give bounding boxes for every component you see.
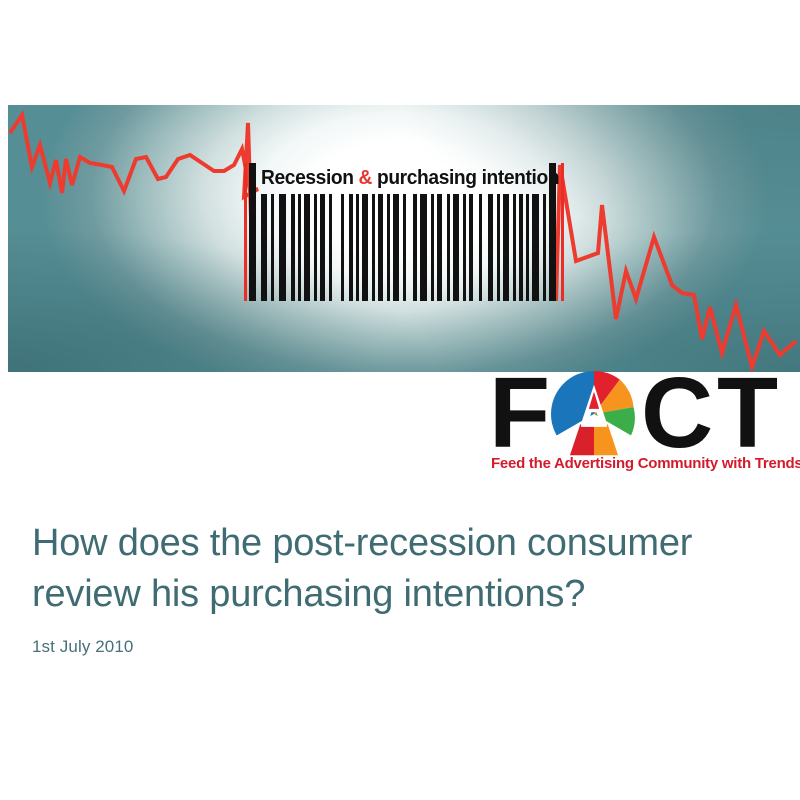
barcode-stripe xyxy=(320,194,325,301)
page-title-line-1: How does the post-recession consumer xyxy=(32,522,692,564)
barcode-stripe xyxy=(298,194,301,301)
fact-logo-tagline: Feed the Advertising Community with Tren… xyxy=(491,455,794,472)
barcode-stripe xyxy=(463,194,466,301)
barcode-stripe xyxy=(532,194,539,301)
barcode-stripe xyxy=(329,194,332,301)
banner-image: Recession & purchasing intention xyxy=(8,105,800,372)
barcode-label-part1: Recession xyxy=(261,167,359,189)
slide-date: 1st July 2010 xyxy=(32,637,762,657)
title-block: How does the post-recession consumerrevi… xyxy=(32,518,762,657)
barcode-stripe xyxy=(261,194,267,301)
barcode-stripe xyxy=(271,194,274,301)
barcode-stripe xyxy=(378,194,383,301)
barcode-stripe xyxy=(304,194,310,301)
barcode-stripe xyxy=(453,194,459,301)
barcode-stripe xyxy=(403,194,406,301)
trend-line-right xyxy=(556,165,796,367)
fact-logo-letters: F C T xyxy=(489,367,794,453)
logo-letter-c: C xyxy=(641,363,713,463)
fact-logo: F C T Feed the Advertising Community wit xyxy=(489,367,794,477)
barcode-stripe xyxy=(279,194,286,301)
barcode-stripe xyxy=(362,194,368,301)
barcode: Recession & purchasing intention xyxy=(244,163,564,301)
barcode-stripe xyxy=(513,194,516,301)
barcode-stripe xyxy=(479,194,482,301)
barcode-label-part2: purchasing intention xyxy=(372,167,559,189)
barcode-stripe xyxy=(526,194,529,301)
barcode-stripe xyxy=(447,194,450,301)
barcode-stripe xyxy=(356,194,359,301)
logo-letter-t: T xyxy=(717,363,778,463)
trend-line-left xyxy=(10,115,258,250)
title-slide: Recession & purchasing intention F C T xyxy=(0,0,800,800)
barcode-stripe xyxy=(497,194,500,301)
barcode-stripe xyxy=(314,194,317,301)
barcode-stripe xyxy=(420,194,427,301)
logo-a-crossbar-gap xyxy=(581,423,607,427)
barcode-stripe xyxy=(543,194,546,301)
barcode-stripes xyxy=(261,194,546,301)
barcode-stripe xyxy=(372,194,375,301)
barcode-stripe xyxy=(431,194,434,301)
barcode-stripe xyxy=(393,194,399,301)
barcode-stripe xyxy=(503,194,509,301)
barcode-stripe xyxy=(437,194,442,301)
barcode-stripe xyxy=(469,194,473,301)
barcode-stripe xyxy=(387,194,390,301)
barcode-edge-black-left xyxy=(249,163,256,301)
barcode-edge-red-left xyxy=(244,163,247,301)
barcode-stripe xyxy=(291,194,295,301)
barcode-label-ampersand: & xyxy=(359,167,372,189)
barcode-edge-black-right xyxy=(549,163,556,301)
barcode-edge-red-right xyxy=(561,163,564,301)
page-title: How does the post-recession consumerrevi… xyxy=(32,518,762,619)
barcode-stripe xyxy=(341,194,344,301)
logo-letter-a-colorwheel xyxy=(551,371,637,457)
barcode-stripe xyxy=(413,194,417,301)
barcode-stripe xyxy=(488,194,493,301)
logo-letter-f: F xyxy=(489,363,548,463)
page-title-line-2: review his purchasing intentions? xyxy=(32,573,585,615)
barcode-label: Recession & purchasing intention xyxy=(261,163,535,193)
barcode-stripe xyxy=(349,194,353,301)
barcode-stripe xyxy=(519,194,523,301)
